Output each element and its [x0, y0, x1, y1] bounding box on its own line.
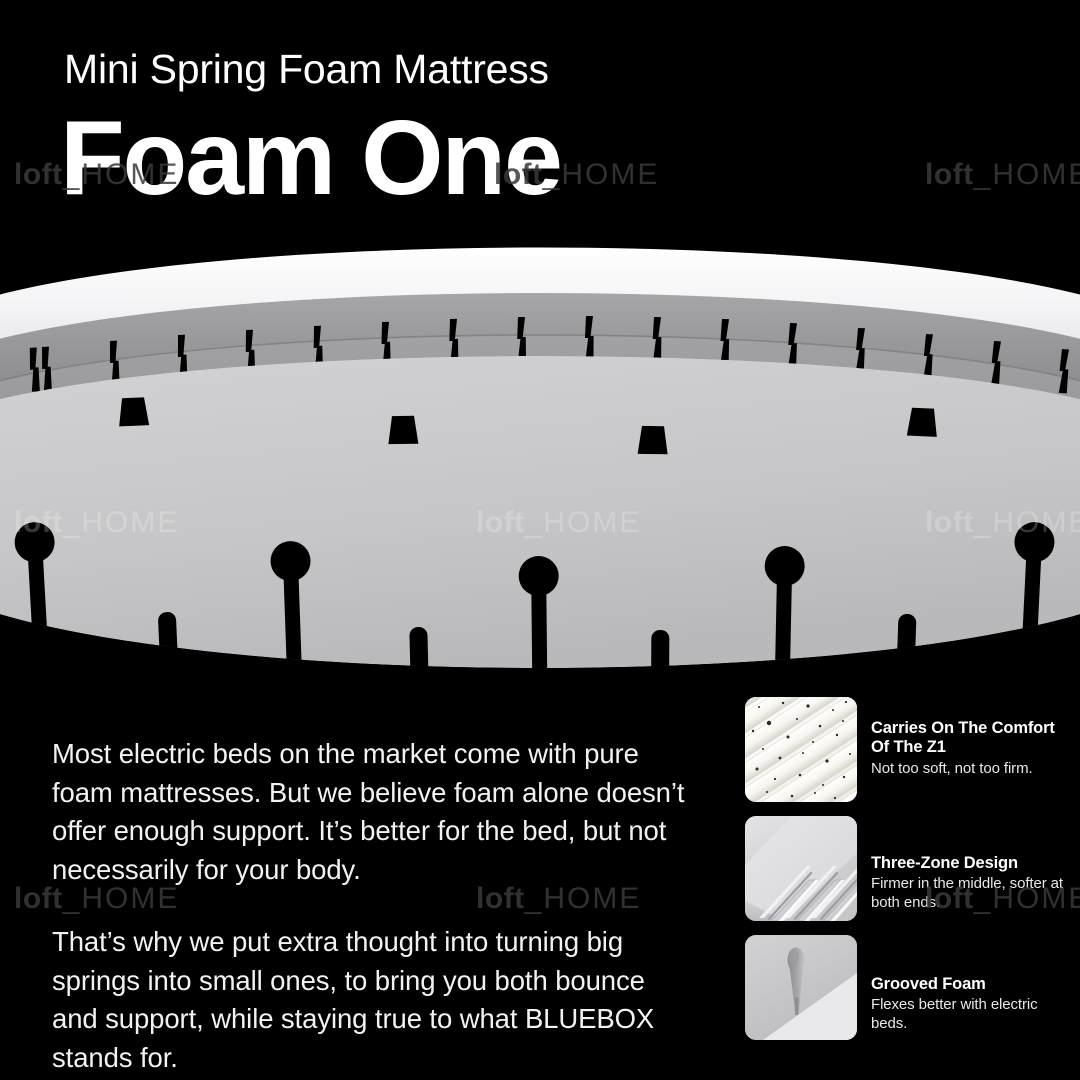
page-title: Foam One [60, 105, 561, 211]
feature-description: Flexes better with electric beds. [871, 996, 1065, 1033]
paragraph-2: That’s why we put extra thought into tur… [52, 923, 692, 1077]
feature-text: Three-Zone Design Firmer in the middle, … [871, 816, 1065, 912]
paragraph-1: Most electric beds on the market come wi… [52, 735, 692, 889]
feature-description: Not too soft, not too firm. [871, 760, 1065, 778]
feature-text: Grooved Foam Flexes better with electric… [871, 935, 1065, 1033]
quilted-foam-thumbnail [745, 697, 857, 802]
feature-description: Firmer in the middle, softer at both end… [871, 875, 1065, 912]
feature-item: Grooved Foam Flexes better with electric… [745, 935, 1065, 1040]
feature-text: Carries On The Comfort Of The Z1 Not too… [871, 697, 1065, 778]
feature-title: Grooved Foam [871, 975, 1065, 994]
eyebrow-subtitle: Mini Spring Foam Mattress [64, 46, 549, 93]
feature-list: Carries On The Comfort Of The Z1 Not too… [745, 697, 1065, 1040]
feature-item: Carries On The Comfort Of The Z1 Not too… [745, 697, 1065, 802]
body-copy: Most electric beds on the market come wi… [52, 735, 692, 1077]
hero-mattress-image [0, 236, 1080, 676]
hero-layer-base-foam [0, 356, 1080, 676]
feature-title: Carries On The Comfort Of The Z1 [871, 719, 1065, 758]
watermark: loft_HOME [925, 160, 1080, 190]
feature-title: Three-Zone Design [871, 854, 1065, 873]
three-zone-foam-thumbnail [745, 816, 857, 921]
feature-item: Three-Zone Design Firmer in the middle, … [745, 816, 1065, 921]
grooved-foam-thumbnail [745, 935, 857, 1040]
